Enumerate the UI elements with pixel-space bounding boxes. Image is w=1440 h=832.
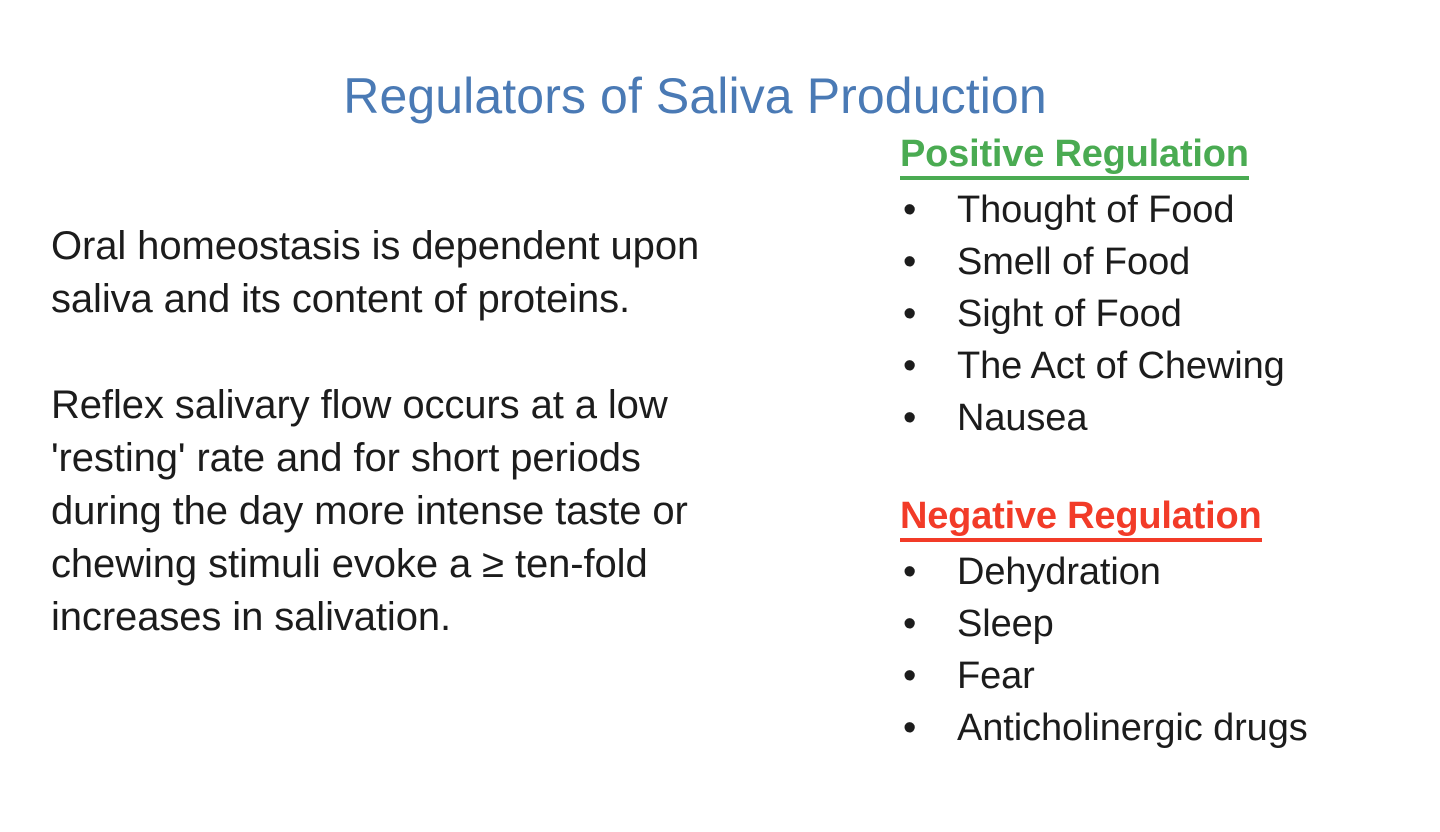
right-regulation-column: Positive Regulation • Thought of Food • …: [900, 134, 1420, 754]
bullet-icon: •: [903, 702, 916, 754]
list-item-label: Sight of Food: [957, 293, 1182, 335]
positive-regulation-heading: Positive Regulation: [900, 134, 1249, 180]
list-item-label: Nausea: [957, 397, 1087, 439]
list-item: • Thought of Food: [900, 184, 1420, 236]
page-title: Regulators of Saliva Production: [0, 68, 1390, 125]
bullet-icon: •: [903, 650, 916, 702]
positive-regulation-list: • Thought of Food • Smell of Food • Sigh…: [900, 184, 1420, 444]
list-item-label: Sleep: [957, 603, 1054, 645]
list-item-label: Thought of Food: [957, 189, 1234, 231]
list-item-label: Dehydration: [957, 551, 1161, 593]
positive-regulation-section: Positive Regulation • Thought of Food • …: [900, 134, 1420, 444]
list-item-label: Smell of Food: [957, 241, 1190, 283]
list-item: • Sight of Food: [900, 288, 1420, 340]
list-item-label: Fear: [957, 655, 1035, 697]
negative-regulation-heading: Negative Regulation: [900, 496, 1262, 542]
list-item: • Dehydration: [900, 546, 1420, 598]
bullet-icon: •: [903, 340, 916, 392]
bullet-icon: •: [903, 236, 916, 288]
list-item-label: The Act of Chewing: [957, 345, 1285, 387]
list-item: • Anticholinergic drugs: [900, 702, 1420, 754]
negative-regulation-list: • Dehydration • Sleep • Fear • Anticholi…: [900, 546, 1420, 754]
bullet-icon: •: [903, 392, 916, 444]
list-item: • The Act of Chewing: [900, 340, 1420, 392]
bullet-icon: •: [903, 598, 916, 650]
list-item: • Nausea: [900, 392, 1420, 444]
paragraph-spacer: [51, 326, 711, 379]
list-item: • Smell of Food: [900, 236, 1420, 288]
bullet-icon: •: [903, 546, 916, 598]
slide-canvas: Regulators of Saliva Production Oral hom…: [0, 0, 1440, 832]
body-paragraph-2: Reflex salivary flow occurs at a low 're…: [51, 379, 711, 644]
negative-regulation-section: Negative Regulation • Dehydration • Slee…: [900, 496, 1420, 754]
body-paragraph-1: Oral homeostasis is dependent upon saliv…: [51, 220, 711, 326]
bullet-icon: •: [903, 288, 916, 340]
bullet-icon: •: [903, 184, 916, 236]
list-item: • Fear: [900, 650, 1420, 702]
left-text-column: Oral homeostasis is dependent upon saliv…: [51, 220, 711, 644]
list-item: • Sleep: [900, 598, 1420, 650]
list-item-label: Anticholinergic drugs: [957, 707, 1308, 749]
